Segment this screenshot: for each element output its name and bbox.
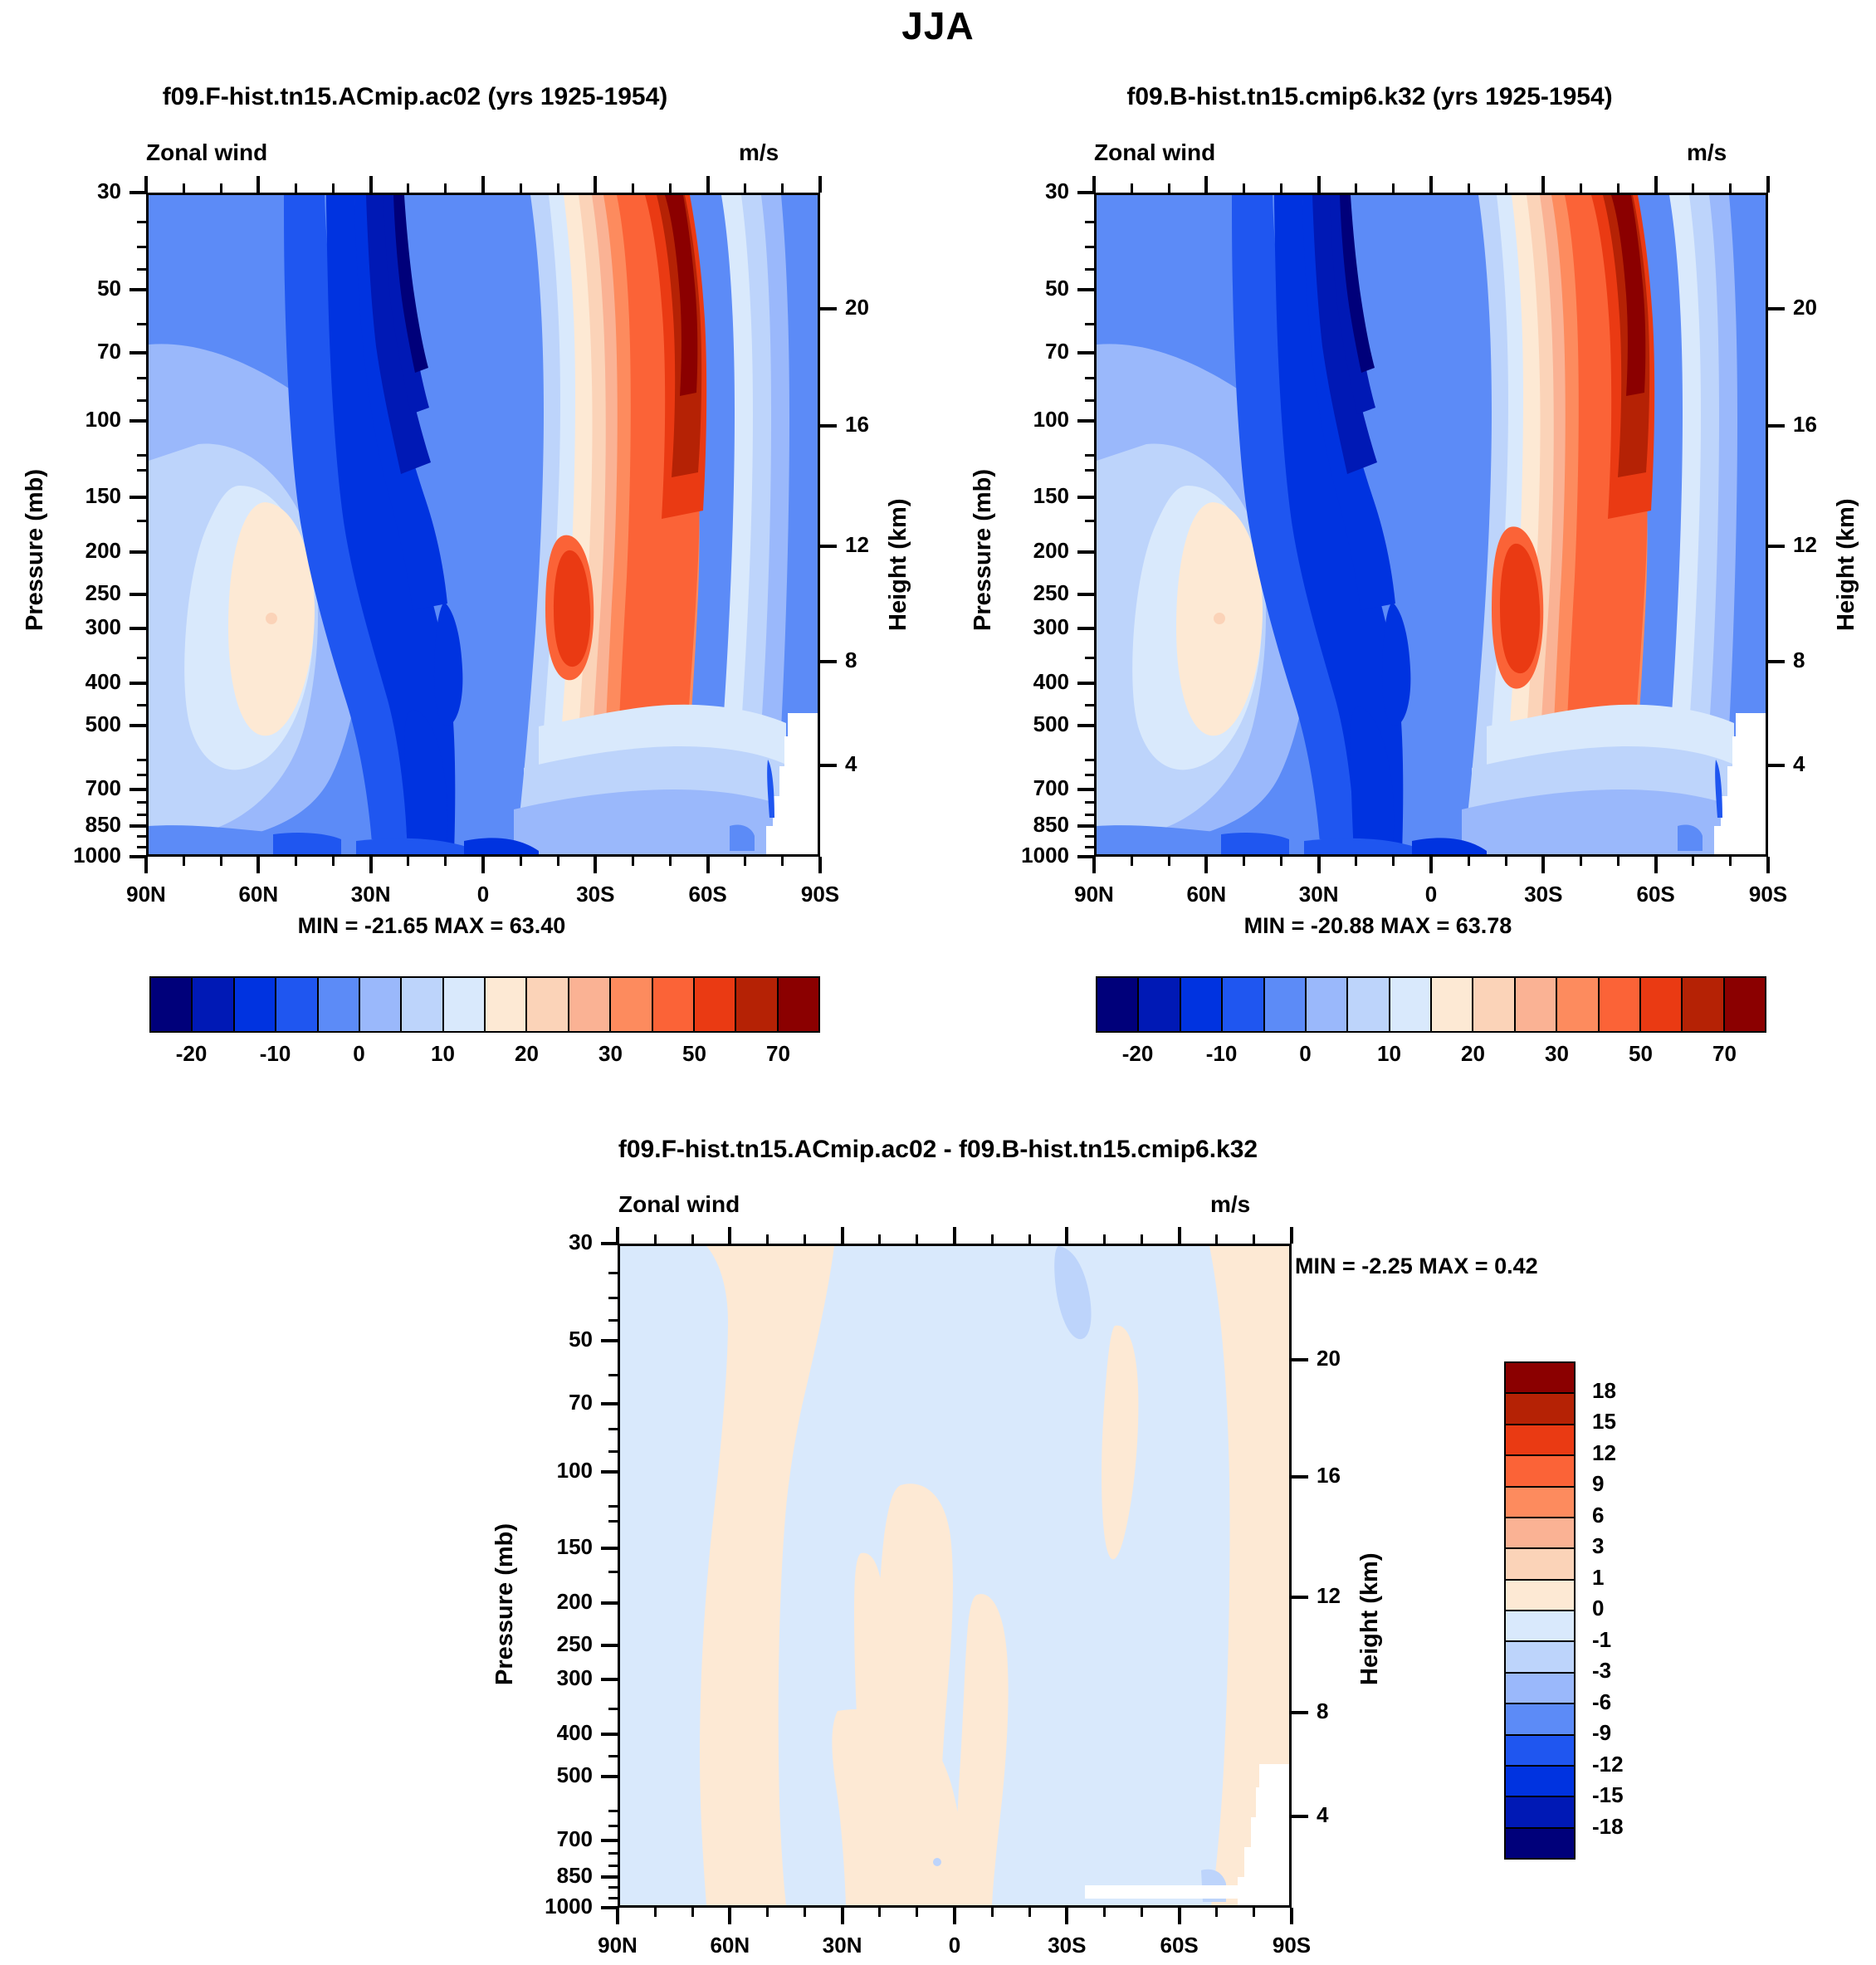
diff-lat-minor-bottom bbox=[1253, 1908, 1255, 1917]
left-pressure-tick bbox=[129, 496, 146, 499]
left-colorbar-cell bbox=[444, 978, 486, 1031]
diff-lat-minor-bottom bbox=[991, 1908, 994, 1917]
diff-lat-minor-top bbox=[804, 1234, 806, 1244]
left-lat-minor-top bbox=[332, 183, 335, 193]
left-lat-minor-bottom bbox=[444, 857, 447, 866]
right-colorbar-cell bbox=[1600, 978, 1641, 1031]
diff-colorbar-cell bbox=[1506, 1394, 1574, 1425]
right-lat-tick-bottom bbox=[1541, 857, 1545, 873]
left-pressure-minor bbox=[137, 759, 146, 761]
diff-lat-tick-top bbox=[953, 1227, 956, 1244]
right-lat-minor-bottom bbox=[1468, 857, 1470, 866]
left-pressure-tick bbox=[129, 288, 146, 291]
right-colorbar-cell bbox=[1557, 978, 1599, 1031]
right-lat-minor-top bbox=[1131, 183, 1133, 193]
left-pressure-label: 400 bbox=[22, 669, 121, 695]
right-pressure-tick bbox=[1077, 724, 1094, 727]
right-pressure-minor bbox=[1085, 774, 1094, 776]
left-height-label: 16 bbox=[845, 412, 903, 437]
right-colorbar-cell bbox=[1348, 978, 1390, 1031]
diff-lat-tick-bottom bbox=[1065, 1908, 1068, 1924]
left-lat-minor-bottom bbox=[669, 857, 672, 866]
left-colorbar-cell bbox=[319, 978, 360, 1031]
right-lat-minor-bottom bbox=[1617, 857, 1620, 866]
diff-height-tick bbox=[1292, 1475, 1308, 1479]
diff-colorbar-cell bbox=[1506, 1767, 1574, 1797]
diff-lat-minor-top bbox=[878, 1234, 881, 1244]
diff-lat-tick-bottom bbox=[728, 1908, 731, 1924]
right-lat-tick-top bbox=[1317, 176, 1321, 193]
right-pressure-minor bbox=[1085, 221, 1094, 223]
diff-height-tick bbox=[1292, 1358, 1308, 1361]
right-pressure-label: 1000 bbox=[970, 843, 1069, 868]
diff-pressure-tick bbox=[601, 1733, 618, 1736]
diff-colorbar-cell bbox=[1506, 1456, 1574, 1487]
right-colorbar-cell bbox=[1139, 978, 1180, 1031]
left-lat-minor-bottom bbox=[295, 857, 297, 866]
left-colorbar-cell bbox=[653, 978, 695, 1031]
diff-lat-tick-bottom bbox=[1178, 1908, 1181, 1924]
diff-lat-minor-top bbox=[1141, 1234, 1143, 1244]
right-minmax-label: MIN = -20.88 MAX = 63.78 bbox=[1063, 913, 1693, 939]
left-pressure-tick bbox=[129, 550, 146, 554]
left-variable-label: Zonal wind bbox=[146, 139, 267, 166]
diff-pressure-minor bbox=[608, 1886, 618, 1889]
left-colorbar-cell bbox=[276, 978, 318, 1031]
left-pressure-label: 200 bbox=[22, 538, 121, 564]
right-colorbar-tick-label: 70 bbox=[1675, 1041, 1775, 1067]
diff-minmax-label: MIN = -2.25 MAX = 0.42 bbox=[1295, 1254, 1793, 1279]
diff-pressure-minor bbox=[608, 1428, 618, 1430]
right-lat-minor-top bbox=[1692, 183, 1694, 193]
left-lat-minor-top bbox=[295, 183, 297, 193]
left-pressure-tick bbox=[129, 351, 146, 354]
right-pressure-label: 50 bbox=[970, 276, 1069, 301]
diff-lat-minor-top bbox=[1103, 1234, 1106, 1244]
right-pressure-label: 700 bbox=[970, 775, 1069, 801]
diff-colorbar-tick-label: -18 bbox=[1592, 1814, 1692, 1840]
right-pressure-minor bbox=[1085, 399, 1094, 402]
diff-colorbar-tick-label: -1 bbox=[1592, 1627, 1692, 1653]
diff-colorbar-cell bbox=[1506, 1829, 1574, 1858]
diff-pressure-tick bbox=[601, 1547, 618, 1550]
diff-colorbar-tick-label: 15 bbox=[1592, 1409, 1692, 1435]
diff-lat-minor-bottom bbox=[916, 1908, 918, 1917]
right-pressure-label: 300 bbox=[970, 614, 1069, 640]
left-lat-label: 90S bbox=[770, 882, 870, 907]
right-pressure-label: 500 bbox=[970, 711, 1069, 737]
diff-lat-minor-top bbox=[991, 1234, 994, 1244]
diff-pressure-tick bbox=[601, 1402, 618, 1405]
diff-pressure-tick bbox=[601, 1906, 618, 1909]
diff-height-label: 16 bbox=[1317, 1463, 1375, 1488]
left-lat-minor-bottom bbox=[520, 857, 522, 866]
diff-lat-minor-top bbox=[916, 1234, 918, 1244]
left-pressure-minor bbox=[137, 846, 146, 848]
diff-pressure-label: 70 bbox=[493, 1390, 593, 1415]
right-lat-tick-bottom bbox=[1092, 857, 1096, 873]
right-lat-tick-bottom bbox=[1654, 857, 1658, 873]
diff-colorbar-cell bbox=[1506, 1611, 1574, 1642]
right-lat-minor-top bbox=[1505, 183, 1507, 193]
right-pressure-label: 150 bbox=[970, 483, 1069, 509]
right-lat-minor-bottom bbox=[1580, 857, 1582, 866]
left-colorbar-cell bbox=[569, 978, 611, 1031]
right-pressure-tick bbox=[1077, 788, 1094, 791]
diff-lat-tick-top bbox=[1065, 1227, 1068, 1244]
diff-colorbar-cell bbox=[1506, 1642, 1574, 1673]
left-lat-tick-bottom bbox=[256, 857, 260, 873]
left-lat-tick-bottom bbox=[369, 857, 373, 873]
diff-contour-plot[interactable] bbox=[618, 1244, 1292, 1908]
left-lat-label: 30N bbox=[321, 882, 421, 907]
diff-colorbar-cell bbox=[1506, 1518, 1574, 1549]
left-height-tick bbox=[820, 424, 837, 428]
diff-colorbar-cell bbox=[1506, 1581, 1574, 1611]
diff-colorbar-tick-label: 3 bbox=[1592, 1533, 1692, 1559]
right-colorbar-cell bbox=[1641, 978, 1683, 1031]
left-lat-minor-top bbox=[444, 183, 447, 193]
right-colorbar-cell bbox=[1390, 978, 1432, 1031]
diff-pressure-minor bbox=[608, 1755, 618, 1757]
left-contour-plot[interactable] bbox=[146, 193, 820, 857]
right-lat-minor-bottom bbox=[1243, 857, 1245, 866]
diff-lat-label: 90N bbox=[568, 1933, 667, 1958]
diff-lat-label: 30S bbox=[1017, 1933, 1116, 1958]
right-pressure-tick bbox=[1077, 550, 1094, 554]
diff-lat-tick-top bbox=[1178, 1227, 1181, 1244]
right-pressure-tick bbox=[1077, 191, 1094, 194]
diff-colorbar[interactable] bbox=[1504, 1361, 1576, 1860]
right-lat-minor-bottom bbox=[1392, 857, 1395, 866]
left-lat-minor-top bbox=[781, 183, 784, 193]
left-lat-minor-top bbox=[520, 183, 522, 193]
left-lat-minor-bottom bbox=[781, 857, 784, 866]
diff-pressure-minor bbox=[608, 1825, 618, 1827]
left-pressure-minor bbox=[137, 268, 146, 271]
right-height-label: 12 bbox=[1793, 532, 1851, 558]
left-lat-tick-bottom bbox=[706, 857, 710, 873]
diff-colorbar-cell bbox=[1506, 1488, 1574, 1518]
right-pressure-minor bbox=[1085, 704, 1094, 706]
diff-lat-label: 90S bbox=[1242, 1933, 1341, 1958]
left-colorbar-cell bbox=[611, 978, 652, 1031]
diff-colorbar-cell bbox=[1506, 1736, 1574, 1767]
left-colorbar-cell bbox=[193, 978, 234, 1031]
diff-lat-minor-bottom bbox=[654, 1908, 657, 1917]
diff-unit-label: m/s bbox=[1210, 1191, 1250, 1218]
right-lat-label: 30S bbox=[1493, 882, 1593, 907]
diff-colorbar-cell bbox=[1506, 1704, 1574, 1735]
right-colorbar-cell bbox=[1223, 978, 1264, 1031]
left-lat-minor-top bbox=[669, 183, 672, 193]
diff-colorbar-tick-label: -9 bbox=[1592, 1720, 1692, 1746]
right-colorbar-cell bbox=[1432, 978, 1473, 1031]
left-lat-minor-top bbox=[183, 183, 185, 193]
right-lat-minor-top bbox=[1580, 183, 1582, 193]
left-lat-tick-bottom bbox=[818, 857, 822, 873]
left-pressure-minor bbox=[137, 377, 146, 379]
left-colorbar-cell bbox=[779, 978, 818, 1031]
left-pressure-minor bbox=[137, 246, 146, 248]
left-pressure-tick bbox=[129, 824, 146, 828]
right-pressure-minor bbox=[1085, 846, 1094, 848]
right-pressure-minor bbox=[1085, 323, 1094, 325]
right-lat-minor-top bbox=[1280, 183, 1282, 193]
left-pressure-minor bbox=[137, 704, 146, 706]
right-pressure-label: 200 bbox=[970, 538, 1069, 564]
diff-lat-minor-bottom bbox=[1103, 1908, 1106, 1917]
diff-pressure-label: 50 bbox=[493, 1327, 593, 1352]
right-lat-minor-bottom bbox=[1355, 857, 1357, 866]
left-lat-tick-bottom bbox=[481, 857, 485, 873]
diff-pressure-tick bbox=[601, 1601, 618, 1605]
left-pressure-tick bbox=[129, 191, 146, 194]
diff-pressure-label: 250 bbox=[493, 1631, 593, 1657]
right-lat-tick-top bbox=[1092, 176, 1096, 193]
right-variable-label: Zonal wind bbox=[1094, 139, 1215, 166]
right-lat-tick-top bbox=[1654, 176, 1658, 193]
left-colorbar-tick-label: 70 bbox=[729, 1041, 828, 1067]
diff-pressure-minor bbox=[608, 1319, 618, 1322]
diff-lat-tick-top bbox=[841, 1227, 844, 1244]
diff-pressure-label: 100 bbox=[493, 1458, 593, 1484]
left-lat-label: 60N bbox=[208, 882, 308, 907]
right-lat-label: 90N bbox=[1044, 882, 1144, 907]
left-pressure-label: 250 bbox=[22, 580, 121, 606]
left-colorbar-cell bbox=[235, 978, 276, 1031]
right-lat-label: 90S bbox=[1718, 882, 1818, 907]
left-pressure-tick bbox=[129, 788, 146, 791]
left-lat-minor-top bbox=[632, 183, 634, 193]
right-lat-minor-top bbox=[1617, 183, 1620, 193]
diff-height-label: 20 bbox=[1317, 1346, 1375, 1371]
right-lat-label: 60N bbox=[1156, 882, 1256, 907]
diff-lat-minor-top bbox=[1215, 1234, 1218, 1244]
figure-supertitle: JJA bbox=[0, 3, 1876, 48]
diff-pressure-minor bbox=[608, 1865, 618, 1867]
right-colorbar-cell bbox=[1097, 978, 1139, 1031]
left-lat-tick-top bbox=[594, 176, 597, 193]
diff-colorbar-tick-label: -6 bbox=[1592, 1689, 1692, 1715]
diff-pressure-label: 150 bbox=[493, 1534, 593, 1560]
diff-colorbar-cell bbox=[1506, 1797, 1574, 1828]
left-pressure-label: 150 bbox=[22, 483, 121, 509]
left-unit-label: m/s bbox=[739, 139, 779, 166]
right-lat-minor-top bbox=[1468, 183, 1470, 193]
diff-panel-title: f09.F-hist.tn15.ACmip.ac02 - f09.B-hist.… bbox=[357, 1136, 1519, 1164]
left-lat-label: 30S bbox=[545, 882, 645, 907]
left-colorbar-cell bbox=[527, 978, 569, 1031]
left-pressure-minor bbox=[137, 399, 146, 402]
left-pressure-minor bbox=[137, 835, 146, 838]
diff-colorbar-tick-label: -15 bbox=[1592, 1782, 1692, 1808]
right-pressure-label: 850 bbox=[970, 812, 1069, 838]
right-pressure-minor bbox=[1085, 520, 1094, 522]
right-pressure-tick bbox=[1077, 593, 1094, 596]
left-colorbar-cell bbox=[151, 978, 193, 1031]
diff-pressure-label: 200 bbox=[493, 1589, 593, 1615]
right-colorbar[interactable] bbox=[1096, 976, 1766, 1033]
right-lat-tick-top bbox=[1766, 176, 1770, 193]
right-lat-minor-bottom bbox=[1131, 857, 1133, 866]
left-pressure-label: 70 bbox=[22, 339, 121, 364]
diff-pressure-minor bbox=[608, 1571, 618, 1573]
diff-lat-tick-top bbox=[728, 1227, 731, 1244]
left-lat-minor-bottom bbox=[744, 857, 746, 866]
diff-lat-tick-bottom bbox=[1290, 1908, 1293, 1924]
diff-pressure-tick bbox=[601, 1775, 618, 1778]
left-pressure-label: 100 bbox=[22, 407, 121, 433]
diff-colorbar-cell bbox=[1506, 1549, 1574, 1580]
diff-lat-minor-top bbox=[1253, 1234, 1255, 1244]
diff-lat-minor-bottom bbox=[766, 1908, 769, 1917]
right-unit-label: m/s bbox=[1687, 139, 1727, 166]
right-lat-tick-top bbox=[1429, 176, 1433, 193]
right-height-tick bbox=[1768, 660, 1785, 663]
right-colorbar-cell bbox=[1307, 978, 1348, 1031]
left-lat-tick-top bbox=[256, 176, 260, 193]
left-lat-minor-bottom bbox=[183, 857, 185, 866]
right-contour-plot[interactable] bbox=[1094, 193, 1768, 857]
diff-height-label: 4 bbox=[1317, 1802, 1375, 1828]
diff-colorbar-tick-label: -12 bbox=[1592, 1752, 1692, 1777]
right-lat-label: 60S bbox=[1606, 882, 1706, 907]
diff-colorbar-tick-label: 12 bbox=[1592, 1440, 1692, 1466]
left-pressure-minor bbox=[137, 520, 146, 522]
diff-pressure-label: 700 bbox=[493, 1826, 593, 1852]
diff-pressure-minor bbox=[608, 1450, 618, 1453]
diff-lat-label: 0 bbox=[905, 1933, 1004, 1958]
diff-height-label: 12 bbox=[1317, 1583, 1375, 1609]
left-lat-minor-top bbox=[557, 183, 559, 193]
left-pressure-minor bbox=[137, 657, 146, 659]
left-pressure-tick bbox=[129, 682, 146, 685]
diff-pressure-tick bbox=[601, 1875, 618, 1879]
diff-pressure-tick bbox=[601, 1839, 618, 1842]
left-lat-minor-bottom bbox=[557, 857, 559, 866]
left-height-label: 4 bbox=[845, 751, 903, 777]
left-height-tick bbox=[820, 545, 837, 548]
left-pressure-minor bbox=[137, 801, 146, 804]
right-pressure-tick bbox=[1077, 419, 1094, 423]
right-pressure-label: 400 bbox=[970, 669, 1069, 695]
right-pressure-tick bbox=[1077, 627, 1094, 630]
diff-pressure-label: 300 bbox=[493, 1665, 593, 1691]
right-lat-minor-bottom bbox=[1505, 857, 1507, 866]
diff-pressure-minor bbox=[608, 1520, 618, 1523]
right-pressure-label: 70 bbox=[970, 339, 1069, 364]
right-pressure-minor bbox=[1085, 835, 1094, 838]
diff-pressure-label: 400 bbox=[493, 1720, 593, 1746]
left-colorbar-cell bbox=[486, 978, 527, 1031]
diff-lat-label: 60N bbox=[680, 1933, 779, 1958]
diff-colorbar-tick-label: 1 bbox=[1592, 1565, 1692, 1591]
left-lat-minor-top bbox=[407, 183, 409, 193]
diff-lat-minor-bottom bbox=[1028, 1908, 1031, 1917]
right-colorbar-cell bbox=[1181, 978, 1223, 1031]
right-pressure-minor bbox=[1085, 246, 1094, 248]
left-lat-label: 0 bbox=[433, 882, 533, 907]
diff-colorbar-cell bbox=[1506, 1363, 1574, 1394]
right-pressure-tick bbox=[1077, 855, 1094, 858]
right-pressure-tick bbox=[1077, 824, 1094, 828]
diff-pressure-minor bbox=[608, 1708, 618, 1710]
diff-lat-label: 30N bbox=[793, 1933, 892, 1958]
left-lat-minor-top bbox=[744, 183, 746, 193]
left-lat-minor-bottom bbox=[220, 857, 222, 866]
diff-colorbar-tick-label: 6 bbox=[1592, 1503, 1692, 1528]
right-pressure-minor bbox=[1085, 801, 1094, 804]
diff-pressure-tick bbox=[601, 1678, 618, 1681]
right-lat-label: 30N bbox=[1269, 882, 1369, 907]
right-height-tick bbox=[1768, 424, 1785, 428]
left-pressure-label: 50 bbox=[22, 276, 121, 301]
diff-pressure-minor bbox=[608, 1272, 618, 1274]
diff-pressure-minor bbox=[608, 1505, 618, 1508]
right-lat-minor-bottom bbox=[1168, 857, 1170, 866]
right-colorbar-cell bbox=[1516, 978, 1557, 1031]
right-pressure-minor bbox=[1085, 268, 1094, 271]
right-lat-tick-bottom bbox=[1766, 857, 1770, 873]
diff-pressure-minor bbox=[608, 1810, 618, 1812]
left-lat-label: 60S bbox=[658, 882, 758, 907]
right-pressure-tick bbox=[1077, 496, 1094, 499]
diff-lat-minor-top bbox=[654, 1234, 657, 1244]
left-pressure-tick bbox=[129, 855, 146, 858]
left-height-label: 20 bbox=[845, 295, 903, 320]
right-colorbar-cell bbox=[1725, 978, 1765, 1031]
left-colorbar[interactable] bbox=[149, 976, 820, 1033]
diff-pressure-label: 1000 bbox=[493, 1894, 593, 1919]
right-pressure-tick bbox=[1077, 682, 1094, 685]
right-pressure-minor bbox=[1085, 377, 1094, 379]
diff-colorbar-tick-label: 0 bbox=[1592, 1596, 1692, 1621]
diff-pressure-tick bbox=[601, 1339, 618, 1342]
diff-height-tick bbox=[1292, 1711, 1308, 1714]
left-pressure-label: 1000 bbox=[22, 843, 121, 868]
left-height-tick bbox=[820, 307, 837, 310]
diff-lat-minor-bottom bbox=[804, 1908, 806, 1917]
diff-pressure-label: 500 bbox=[493, 1762, 593, 1788]
right-height-tick bbox=[1768, 545, 1785, 548]
right-height-label: 16 bbox=[1793, 412, 1851, 437]
right-lat-tick-bottom bbox=[1429, 857, 1433, 873]
right-colorbar-cell bbox=[1473, 978, 1515, 1031]
left-pressure-minor bbox=[137, 221, 146, 223]
left-colorbar-cell bbox=[736, 978, 778, 1031]
left-pressure-label: 30 bbox=[22, 178, 121, 204]
left-lat-tick-top bbox=[706, 176, 710, 193]
diff-height-axis-title: Height (km) bbox=[1356, 1553, 1384, 1686]
diff-colorbar-tick-label: 9 bbox=[1592, 1471, 1692, 1497]
right-pressure-minor bbox=[1085, 454, 1094, 457]
left-height-tick bbox=[820, 660, 837, 663]
diff-colorbar-cell bbox=[1506, 1425, 1574, 1456]
right-pressure-tick bbox=[1077, 288, 1094, 291]
right-colorbar-cell bbox=[1683, 978, 1724, 1031]
left-lat-label: 90N bbox=[96, 882, 196, 907]
left-pressure-tick bbox=[129, 627, 146, 630]
right-lat-tick-bottom bbox=[1204, 857, 1208, 873]
left-pressure-minor bbox=[137, 774, 146, 776]
left-lat-tick-top bbox=[481, 176, 485, 193]
diff-pressure-label: 30 bbox=[493, 1229, 593, 1255]
diff-lat-label: 60S bbox=[1130, 1933, 1229, 1958]
diff-lat-tick-bottom bbox=[841, 1908, 844, 1924]
left-lat-tick-top bbox=[369, 176, 373, 193]
right-pressure-label: 100 bbox=[970, 407, 1069, 433]
